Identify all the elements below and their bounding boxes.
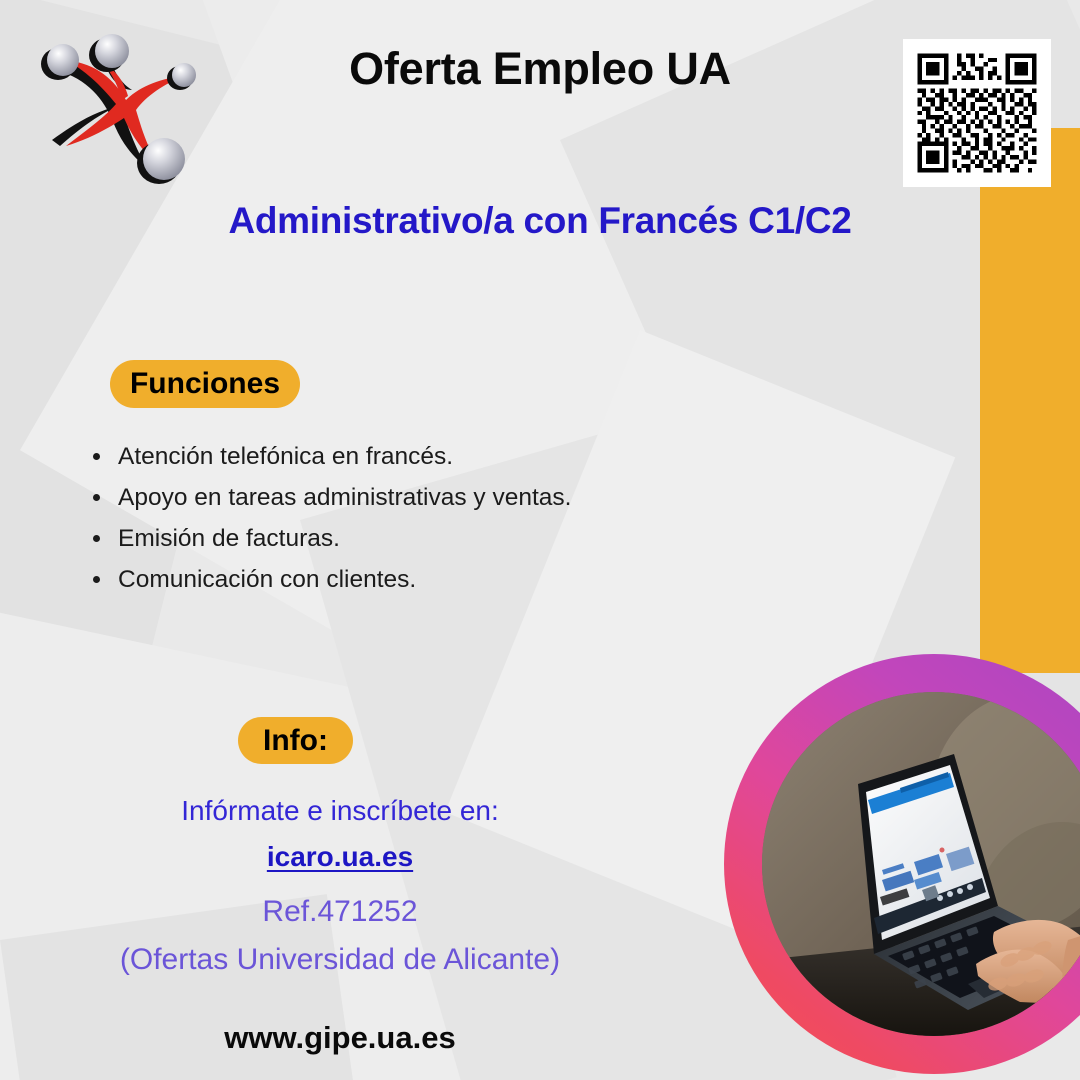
job-position-subtitle: Administrativo/a con Francés C1/C2 xyxy=(0,200,1080,242)
info-badge: Info: xyxy=(238,717,353,764)
list-item-label: Apoyo en tareas administrativas y ventas… xyxy=(118,484,571,511)
list-item: Emisión de facturas. xyxy=(86,524,726,554)
photo-circle xyxy=(724,654,1080,1074)
bullet-dot-icon xyxy=(93,535,100,542)
info-instruction-text: Infórmate e inscríbete en: xyxy=(0,795,680,827)
job-reference-note: (Ofertas Universidad de Alicante) xyxy=(0,943,680,977)
info-badge-label: Info: xyxy=(263,724,328,758)
funciones-badge-label: Funciones xyxy=(130,367,280,401)
list-item-label: Emisión de facturas. xyxy=(118,525,340,552)
list-item: Apoyo en tareas administrativas y ventas… xyxy=(86,483,726,513)
funciones-badge: Funciones xyxy=(110,360,300,408)
bullet-dot-icon xyxy=(93,576,100,583)
page-title: Oferta Empleo UA xyxy=(0,43,1080,95)
poster-canvas: Oferta Empleo UA Administrativo/a con Fr… xyxy=(0,0,1080,1080)
list-item-label: Comunicación con clientes. xyxy=(118,566,416,593)
list-item: Comunicación con clientes. xyxy=(86,565,726,595)
list-item: Atención telefónica en francés. xyxy=(86,442,726,472)
bullet-dot-icon xyxy=(93,453,100,460)
footer-website-url: www.gipe.ua.es xyxy=(0,1020,680,1056)
funciones-list: Atención telefónica en francés. Apoyo en… xyxy=(86,442,726,606)
list-item-label: Atención telefónica en francés. xyxy=(118,443,453,470)
job-reference: Ref.471252 xyxy=(0,895,680,929)
icaro-link[interactable]: icaro.ua.es xyxy=(0,841,680,873)
bullet-dot-icon xyxy=(93,494,100,501)
